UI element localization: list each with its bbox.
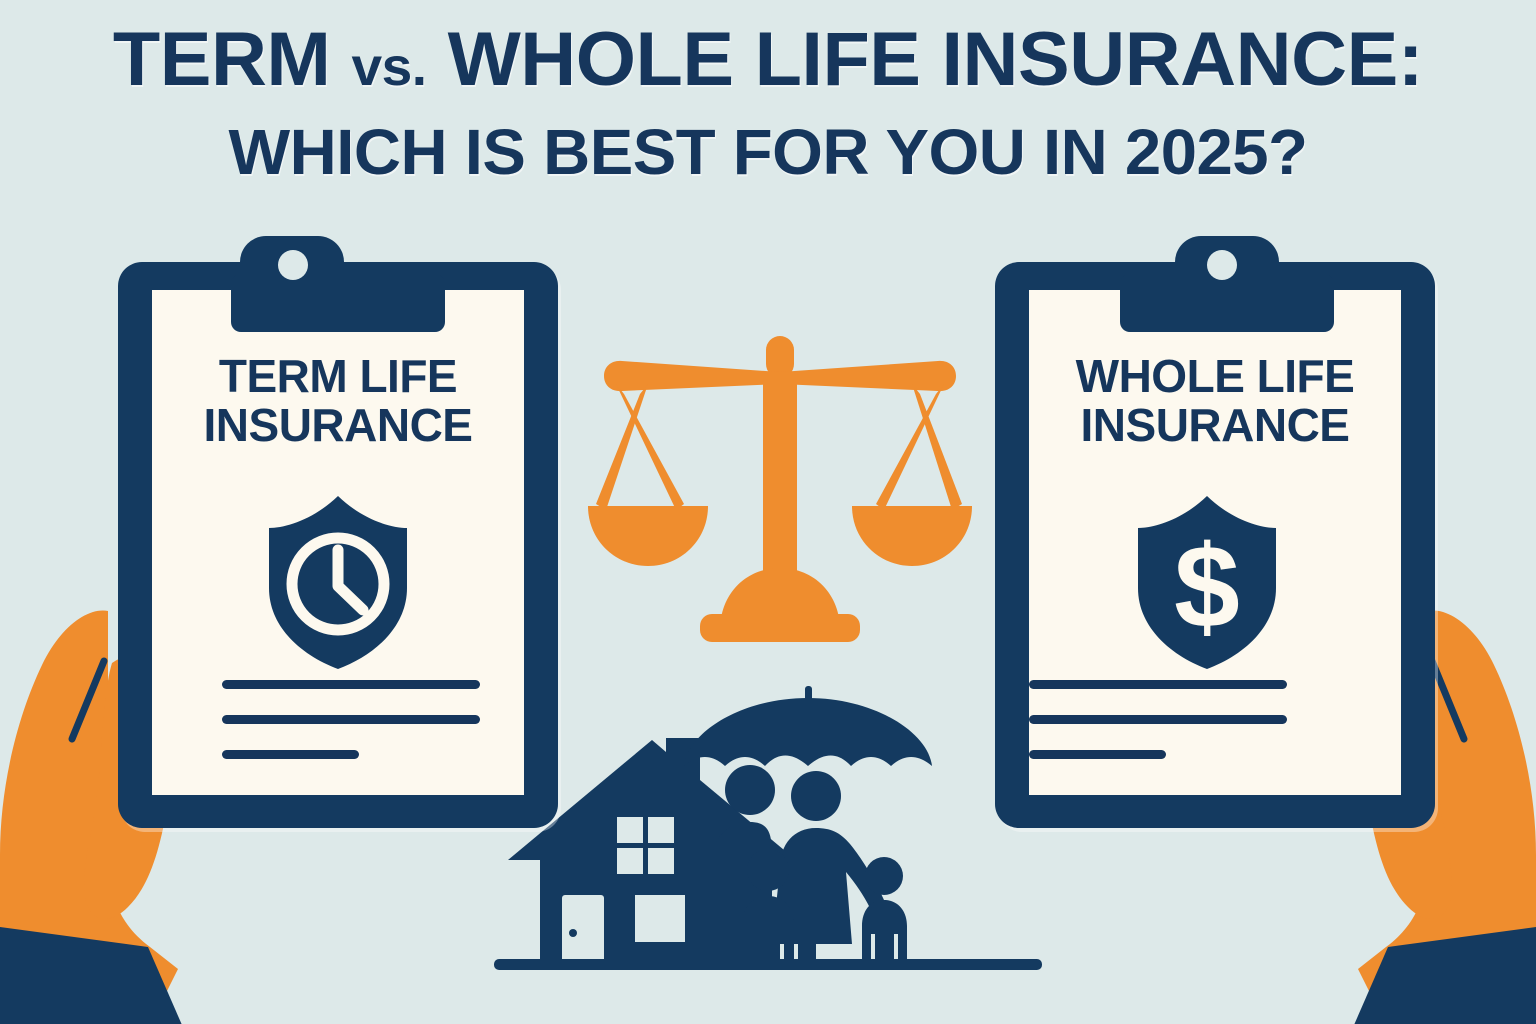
ground-line [494,959,1042,970]
card-title-term-life: TERM LIFE INSURANCE [152,352,524,450]
umbrella-canopy [684,698,932,766]
paper-line [222,680,480,689]
paper-line [222,750,359,759]
paper-line [1029,680,1287,689]
child-right-head [865,857,903,895]
scale-string-right-b [912,384,962,510]
paper-text-lines [222,680,480,759]
house-window [635,895,685,942]
child-right-body [862,900,907,964]
card-title-line-1: TERM LIFE [152,352,524,401]
clipboard-term-life: TERM LIFE INSURANCE [118,236,566,836]
scale-pan-left [588,506,708,566]
paper-line [222,715,480,724]
card-title-line-2: INSURANCE [152,401,524,450]
attic-pane-tr [648,817,674,843]
title-vs: vs. [352,37,427,97]
shield-dollar-icon: $ [1132,492,1282,672]
right-sleeve [1354,927,1536,1024]
scale-string-left-b [596,384,648,510]
scale-column [763,372,797,592]
card-title-line-2: INSURANCE [1029,401,1401,450]
father-head [725,765,775,815]
infographic-canvas: TERM vs. WHOLE LIFE INSURANCE: WHICH IS … [0,0,1536,1024]
page-title: TERM vs. WHOLE LIFE INSURANCE: WHICH IS … [0,22,1536,184]
dollar-glyph: $ [1174,521,1240,653]
child-left-body [742,896,794,964]
house-family-scene [480,680,1060,985]
card-title-line-1: WHOLE LIFE [1029,352,1401,401]
mother-head [791,771,841,821]
title-line-2: WHICH IS BEST FOR YOU IN 2025? [0,120,1536,184]
attic-pane-tl [617,817,643,843]
attic-pane-br [648,848,674,874]
title-whole-life: WHOLE LIFE INSURANCE: [448,17,1423,102]
paper-line [1029,715,1287,724]
scale-pan-right [852,506,972,566]
paper-text-lines [1029,680,1287,759]
door-knob [569,929,577,937]
left-sleeve [0,927,182,1024]
clip-hole [278,250,308,280]
child-left-head [747,849,789,891]
balance-scales-icon [580,332,980,642]
paper-line [1029,750,1166,759]
title-line-1: TERM vs. WHOLE LIFE INSURANCE: [0,22,1536,98]
clipboard-whole-life: WHOLE LIFE INSURANCE $ [995,236,1443,836]
house-door [562,895,604,965]
clip-base [231,274,445,332]
card-title-whole-life: WHOLE LIFE INSURANCE [1029,352,1401,450]
clip-base [1120,274,1334,332]
title-term: TERM [113,17,331,102]
clip-hole [1207,250,1237,280]
attic-pane-bl [617,848,643,874]
shield-clock-icon [263,492,413,672]
scale-base-plinth [700,614,860,642]
family-group [712,765,907,964]
umbrella-icon [684,686,932,766]
